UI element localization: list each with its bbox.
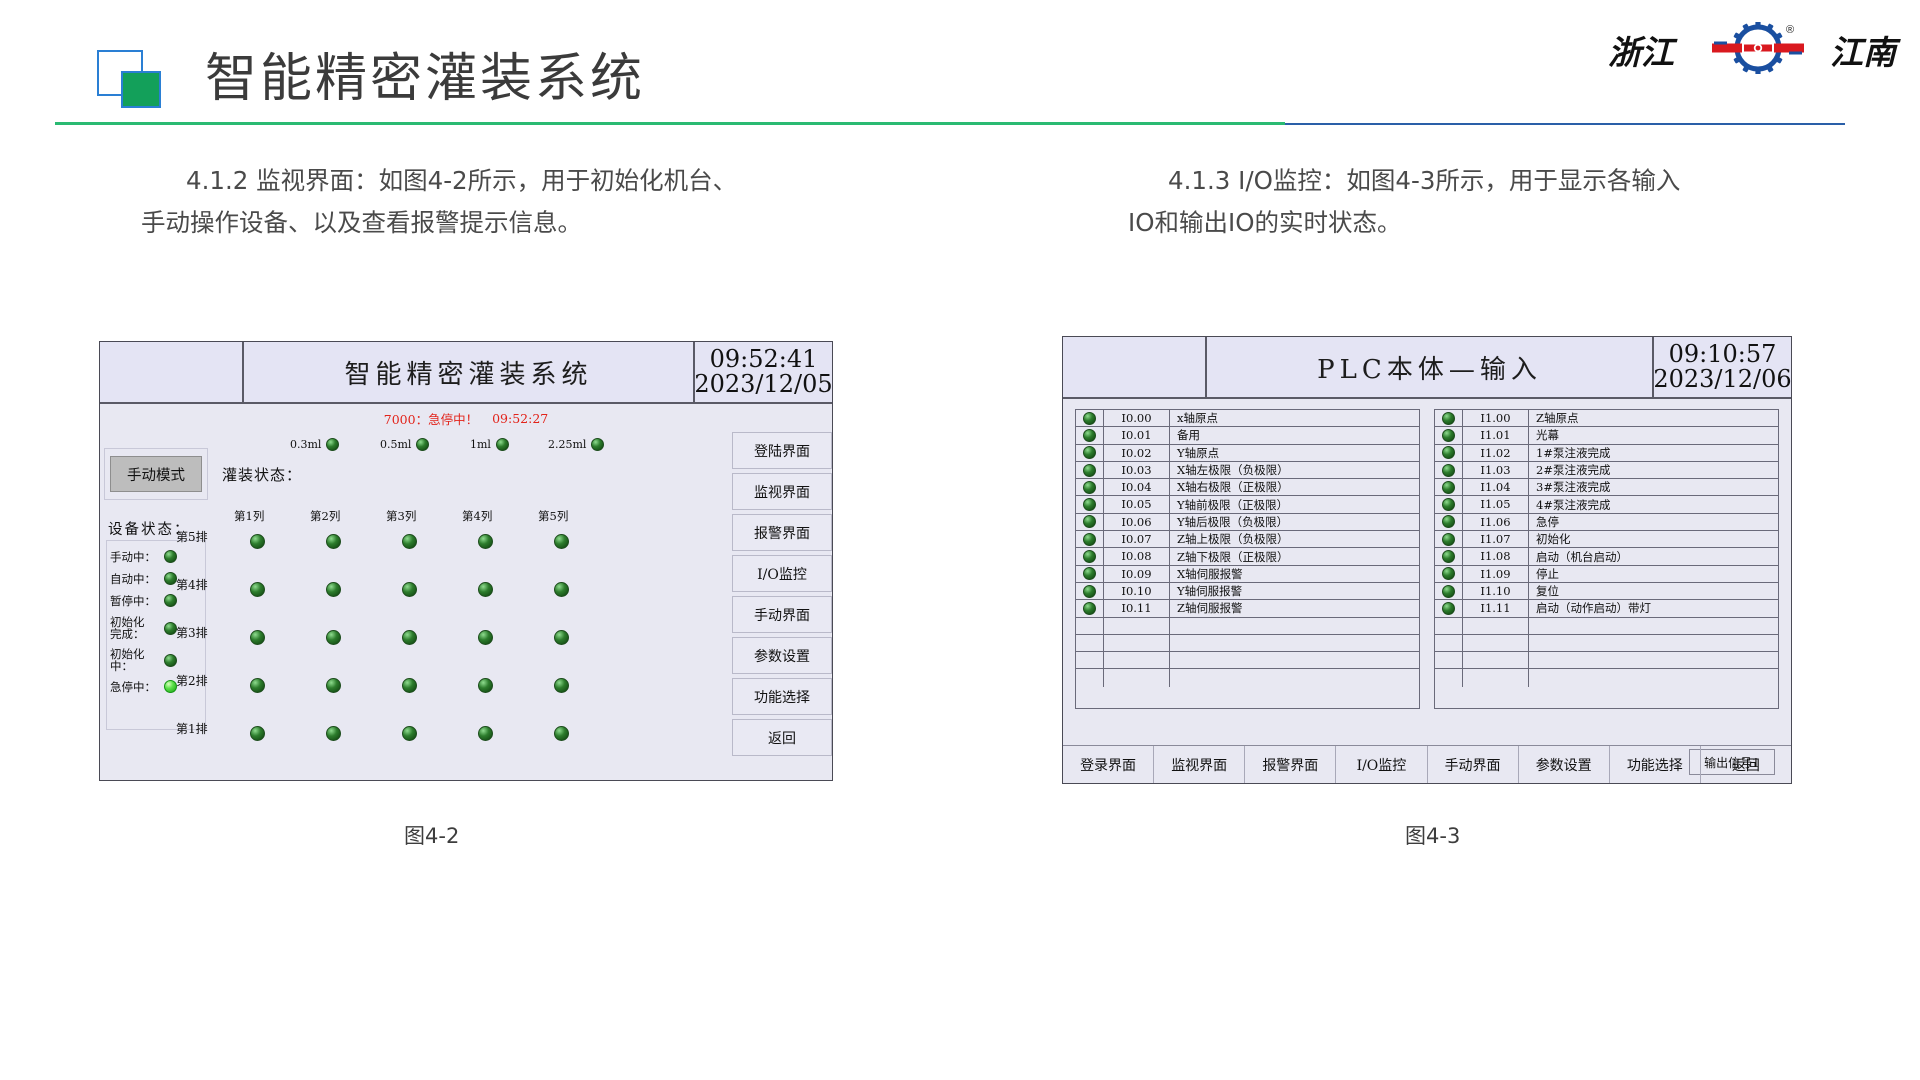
hmi-io-tables: I0.00x轴原点I0.01备用I0.02Y轴原点I0.03X轴左极限（负极限）… — [1063, 399, 1791, 709]
io-address-cell: I1.06 — [1463, 514, 1529, 530]
io-status-lamp-icon — [1442, 515, 1455, 528]
io-status-lamp-icon — [1442, 550, 1455, 563]
io-address-cell: I1.09 — [1463, 566, 1529, 582]
filling-status-lamp-icon — [478, 630, 493, 645]
io-table-row: I0.06Y轴后极限（负极限） — [1076, 514, 1419, 531]
io-description-cell: 启动（动作启动）带灯 — [1529, 600, 1778, 616]
io-table-row: I1.06急停 — [1435, 514, 1778, 531]
manual-mode-button[interactable]: 手动模式 — [110, 456, 202, 492]
hmi-io-clock: 09:10:57 2023/12/06 — [1652, 337, 1791, 397]
filling-status-lamp-icon — [326, 534, 341, 549]
filling-status-grid: 第1列第2列第3列第4列第5列第5排第4排第3排第2排第1排 — [222, 486, 684, 776]
io-address-cell: I0.06 — [1104, 514, 1170, 530]
hmi-io-nav-button[interactable]: 参数设置 — [1519, 746, 1610, 783]
hmi-side-button[interactable]: 参数设置 — [732, 637, 832, 674]
io-lamp-cell — [1076, 462, 1104, 478]
grid-row-header: 第2排 — [176, 672, 208, 689]
hmi-monitor-clock-date: 2023/12/05 — [694, 372, 832, 397]
volume-indicator: 1ml — [470, 438, 509, 451]
figure-caption-left: 图4-2 — [404, 820, 459, 850]
hmi-monitor-titlebar: 智能精密灌装系统 09:52:41 2023/12/05 — [100, 342, 832, 404]
hmi-side-button[interactable]: 手动界面 — [732, 596, 832, 633]
volume-lamp-icon — [416, 438, 429, 451]
filling-status-lamp-icon — [326, 582, 341, 597]
device-state-row: 暂停中： — [110, 594, 206, 607]
paragraph-left-line2: 手动操作设备、以及查看报警提示信息。 — [141, 202, 582, 244]
io-lamp-cell — [1076, 496, 1104, 512]
io-address-cell: I1.10 — [1463, 583, 1529, 599]
io-description-cell: X轴左极限（负极限） — [1170, 462, 1419, 478]
io-table-row: I0.10Y轴伺服报警 — [1076, 583, 1419, 600]
io-status-lamp-icon — [1442, 602, 1455, 615]
volume-indicator: 0.3ml — [290, 438, 339, 451]
hmi-monitor-title: 智能精密灌装系统 — [344, 354, 592, 391]
hmi-monitor-clock: 09:52:41 2023/12/05 — [693, 342, 832, 402]
filling-status-lamp-icon — [402, 678, 417, 693]
io-table-row: I0.05Y轴前极限（正极限） — [1076, 496, 1419, 513]
filling-status-lamp-icon — [478, 582, 493, 597]
company-logo: 浙江 — [1608, 20, 1898, 80]
io-description-cell: 3#泵注液完成 — [1529, 479, 1778, 495]
paragraph-left-line1: 4.1.2 监视界面：如图4-2所示，用于初始化机台、 — [186, 160, 737, 202]
io-status-lamp-icon — [1442, 585, 1455, 598]
grid-row-header: 第3排 — [176, 624, 208, 641]
volume-label: 0.5ml — [380, 438, 411, 451]
io-status-lamp-icon — [1442, 498, 1455, 511]
io-table-row: I1.054#泵注液完成 — [1435, 496, 1778, 513]
io-address-cell: I0.04 — [1104, 479, 1170, 495]
io-table-row — [1076, 635, 1419, 652]
device-state-lamp-icon — [164, 654, 177, 667]
io-table-row — [1435, 652, 1778, 669]
hmi-io-clock-time: 09:10:57 — [1669, 342, 1777, 367]
io-description-cell: Y轴原点 — [1170, 445, 1419, 461]
logo-square-filled-icon — [121, 71, 161, 108]
io-address-cell: I0.10 — [1104, 583, 1170, 599]
io-table-row: I0.09X轴伺服报警 — [1076, 566, 1419, 583]
io-table-row: I1.11启动（动作启动）带灯 — [1435, 600, 1778, 617]
io-address-cell — [1104, 618, 1170, 634]
io-table-row — [1435, 618, 1778, 635]
io-description-cell: 2#泵注液完成 — [1529, 462, 1778, 478]
io-lamp-cell — [1076, 514, 1104, 530]
hmi-monitor-alarm-strip: 7000：急停中！ 09:52:27 — [100, 404, 832, 432]
slide-header: 智能精密灌装系统 浙江 — [0, 0, 1920, 128]
hmi-io-navbar: 登录界面监视界面报警界面I/O监控手动界面参数设置功能选择返回 — [1063, 745, 1791, 783]
io-lamp-cell — [1076, 669, 1104, 686]
volume-lamp-icon — [591, 438, 604, 451]
io-address-cell: I1.00 — [1463, 410, 1529, 426]
io-lamp-cell — [1435, 566, 1463, 582]
io-address-cell: I1.01 — [1463, 427, 1529, 443]
hmi-side-button[interactable]: I/O监控 — [732, 555, 832, 592]
io-status-lamp-icon — [1442, 429, 1455, 442]
io-status-lamp-icon — [1083, 481, 1096, 494]
io-address-cell: I0.00 — [1104, 410, 1170, 426]
io-lamp-cell — [1076, 445, 1104, 461]
hmi-side-button[interactable]: 返回 — [732, 719, 832, 756]
io-table-row: I1.043#泵注液完成 — [1435, 479, 1778, 496]
hmi-io-nav-button[interactable]: 报警界面 — [1245, 746, 1336, 783]
io-description-cell: Z轴下极限（正极限） — [1170, 549, 1419, 565]
grid-row-header: 第5排 — [176, 528, 208, 545]
filling-status-lamp-icon — [554, 678, 569, 693]
io-status-lamp-icon — [1083, 550, 1096, 563]
device-state-label-text: 手动中： — [110, 551, 164, 563]
hmi-side-button[interactable]: 报警界面 — [732, 514, 832, 551]
io-table-row — [1076, 618, 1419, 635]
io-lamp-cell — [1435, 652, 1463, 668]
io-table-row: I1.07初始化 — [1435, 531, 1778, 548]
io-address-cell: I0.02 — [1104, 445, 1170, 461]
io-table-row: I0.11Z轴伺服报警 — [1076, 600, 1419, 617]
io-address-cell: I1.11 — [1463, 600, 1529, 616]
io-status-lamp-icon — [1083, 585, 1096, 598]
io-description-cell: 初始化 — [1529, 531, 1778, 547]
io-lamp-cell — [1076, 635, 1104, 651]
io-address-cell: I0.08 — [1104, 548, 1170, 564]
filling-status-lamp-icon — [554, 630, 569, 645]
grid-row-header: 第4排 — [176, 576, 208, 593]
io-table-row: I1.01光幕 — [1435, 427, 1778, 444]
hmi-monitor-clock-time: 09:52:41 — [710, 347, 818, 372]
io-status-lamp-icon — [1442, 481, 1455, 494]
io-description-cell: Y轴伺服报警 — [1170, 583, 1419, 599]
io-description-cell: 停止 — [1529, 566, 1778, 582]
io-status-lamp-icon — [1083, 498, 1096, 511]
io-lamp-cell — [1435, 583, 1463, 599]
grid-row-header: 第1排 — [176, 720, 208, 737]
io-address-cell: I1.03 — [1463, 462, 1529, 478]
volume-label: 1ml — [470, 438, 491, 451]
io-description-cell: 1#泵注液完成 — [1529, 445, 1778, 461]
io-address-cell — [1463, 669, 1529, 686]
io-description-cell: Y轴后极限（负极限） — [1170, 514, 1419, 530]
io-status-lamp-icon — [1442, 464, 1455, 477]
io-lamp-cell — [1435, 669, 1463, 686]
io-address-cell: I1.02 — [1463, 445, 1529, 461]
io-lamp-cell — [1076, 583, 1104, 599]
filling-status-lamp-icon — [250, 582, 265, 597]
io-lamp-cell — [1435, 548, 1463, 564]
io-description-cell: x轴原点 — [1170, 410, 1419, 426]
filling-status-lamp-icon — [402, 582, 417, 597]
io-status-lamp-icon — [1442, 446, 1455, 459]
io-lamp-cell — [1076, 531, 1104, 547]
hmi-io-nav-button[interactable]: 监视界面 — [1154, 746, 1245, 783]
filling-status-lamp-icon — [250, 678, 265, 693]
io-lamp-cell — [1435, 427, 1463, 443]
io-description-cell: 启动（机台启动） — [1529, 549, 1778, 565]
io-address-cell: I0.07 — [1104, 531, 1170, 547]
hmi-io-nav-button[interactable]: I/O监控 — [1336, 746, 1427, 783]
filling-status-lamp-icon — [478, 678, 493, 693]
hmi-io-nav-button[interactable]: 返回 — [1701, 746, 1791, 783]
io-lamp-cell — [1435, 496, 1463, 512]
io-table-row: I1.08启动（机台启动） — [1435, 548, 1778, 565]
hmi-monitor-side-buttons: 登陆界面监视界面报警界面I/O监控手动界面参数设置功能选择返回 — [732, 432, 832, 760]
hmi-io-nav-button[interactable]: 登录界面 — [1063, 746, 1154, 783]
page-title: 智能精密灌装系统 — [205, 36, 645, 111]
volume-label: 0.3ml — [290, 438, 321, 451]
hmi-monitor-screen: 智能精密灌装系统 09:52:41 2023/12/05 7000：急停中！ 0… — [99, 341, 833, 781]
io-description-cell: 4#泵注液完成 — [1529, 497, 1778, 513]
io-table-row — [1435, 635, 1778, 652]
hmi-io-titlebar-spacer — [1063, 337, 1207, 397]
filling-status-lamp-icon — [402, 726, 417, 741]
device-state-row: 手动中： — [110, 550, 206, 563]
title-divider — [55, 122, 1845, 124]
io-status-lamp-icon — [1083, 412, 1096, 425]
io-description-cell: X轴伺服报警 — [1170, 566, 1419, 582]
hmi-io-title: PLC本体—输入 — [1317, 349, 1542, 386]
hmi-io-screen: PLC本体—输入 09:10:57 2023/12/06 I0.00x轴原点I0… — [1062, 336, 1792, 784]
filling-status-lamp-icon — [250, 534, 265, 549]
io-description-cell: Y轴前极限（正极限） — [1170, 497, 1419, 513]
io-address-cell — [1463, 618, 1529, 634]
io-address-cell — [1104, 652, 1170, 668]
device-state-label-text: 暂停中： — [110, 595, 164, 607]
io-table-row: I1.09停止 — [1435, 566, 1778, 583]
io-table-row: I1.021#泵注液完成 — [1435, 445, 1778, 462]
io-lamp-cell — [1076, 618, 1104, 634]
filling-status-lamp-icon — [554, 534, 569, 549]
io-lamp-cell — [1435, 531, 1463, 547]
filling-status-lamp-icon — [326, 726, 341, 741]
io-table-row — [1076, 669, 1419, 686]
io-table-row — [1435, 669, 1778, 686]
io-description-cell: Z轴原点 — [1529, 410, 1778, 426]
filling-status-lamp-icon — [478, 534, 493, 549]
grid-column-header: 第4列 — [462, 508, 492, 524]
filling-status-lamp-icon — [478, 726, 493, 741]
io-table-row: I0.08Z轴下极限（正极限） — [1076, 548, 1419, 565]
hmi-side-button[interactable]: 监视界面 — [732, 473, 832, 510]
filling-status-lamp-icon — [402, 534, 417, 549]
io-address-cell: I0.11 — [1104, 600, 1170, 616]
hmi-io-title-cell: PLC本体—输入 — [1207, 337, 1652, 397]
hmi-monitor-title-cell: 智能精密灌装系统 — [244, 342, 693, 402]
io-address-cell: I0.03 — [1104, 462, 1170, 478]
io-lamp-cell — [1076, 600, 1104, 616]
grid-column-header: 第5列 — [538, 508, 568, 524]
io-table-row: I0.07Z轴上极限（负极限） — [1076, 531, 1419, 548]
filling-status-lamp-icon — [326, 678, 341, 693]
paragraph-right-line2: IO和输出IO的实时状态。 — [1128, 202, 1402, 244]
figure-caption-right: 图4-3 — [1405, 820, 1460, 850]
io-table-row: I1.032#泵注液完成 — [1435, 462, 1778, 479]
fill-state-label: 灌装状态： — [222, 464, 302, 485]
io-description-cell: Z轴伺服报警 — [1170, 600, 1419, 616]
volume-indicator: 2.25ml — [548, 438, 604, 451]
registered-mark: ® — [1786, 24, 1794, 36]
io-lamp-cell — [1076, 410, 1104, 426]
device-state-label-text: 急停中： — [110, 681, 164, 693]
hmi-side-button[interactable]: 功能选择 — [732, 678, 832, 715]
io-table-row: I0.03X轴左极限（负极限） — [1076, 462, 1419, 479]
alarm-time: 09:52:27 — [492, 411, 548, 426]
io-description-cell: Z轴上极限（负极限） — [1170, 531, 1419, 547]
io-lamp-cell — [1435, 410, 1463, 426]
io-table-row: I0.00x轴原点 — [1076, 410, 1419, 427]
io-address-cell: I1.07 — [1463, 531, 1529, 547]
io-address-cell: I0.05 — [1104, 496, 1170, 512]
filling-status-lamp-icon — [554, 726, 569, 741]
filling-status-lamp-icon — [554, 582, 569, 597]
io-status-lamp-icon — [1083, 567, 1096, 580]
io-table-row: I0.01备用 — [1076, 427, 1419, 444]
device-state-row: 初始化中： — [110, 648, 206, 672]
hmi-io-nav-button[interactable]: 手动界面 — [1428, 746, 1519, 783]
io-address-cell — [1463, 652, 1529, 668]
io-lamp-cell — [1435, 635, 1463, 651]
grid-column-header: 第1列 — [234, 508, 264, 524]
io-table-right: I1.00Z轴原点I1.01光幕I1.021#泵注液完成I1.032#泵注液完成… — [1434, 409, 1779, 709]
io-status-lamp-icon — [1083, 446, 1096, 459]
io-lamp-cell — [1435, 514, 1463, 530]
hmi-side-button[interactable]: 登陆界面 — [732, 432, 832, 469]
io-table-row: I1.10复位 — [1435, 583, 1778, 600]
io-status-lamp-icon — [1442, 412, 1455, 425]
io-status-lamp-icon — [1442, 533, 1455, 546]
io-description-cell: 复位 — [1529, 583, 1778, 599]
paragraph-right-line1: 4.1.3 I/O监控：如图4-3所示，用于显示各输入 — [1168, 160, 1680, 202]
io-lamp-cell — [1435, 445, 1463, 461]
hmi-io-titlebar: PLC本体—输入 09:10:57 2023/12/06 — [1063, 337, 1791, 399]
device-state-lamp-icon — [164, 550, 177, 563]
device-state-lamp-icon — [164, 594, 177, 607]
volume-lamp-icon — [496, 438, 509, 451]
io-status-lamp-icon — [1083, 515, 1096, 528]
io-address-cell — [1104, 635, 1170, 651]
io-address-cell: I1.04 — [1463, 479, 1529, 495]
io-status-lamp-icon — [1083, 429, 1096, 442]
io-address-cell — [1463, 635, 1529, 651]
io-lamp-cell — [1076, 566, 1104, 582]
io-description-cell: 光幕 — [1529, 427, 1778, 443]
io-lamp-cell — [1076, 548, 1104, 564]
io-lamp-cell — [1435, 479, 1463, 495]
volume-indicator: 0.5ml — [380, 438, 429, 451]
device-state-label-text: 自动中： — [110, 573, 164, 585]
io-table-left: I0.00x轴原点I0.01备用I0.02Y轴原点I0.03X轴左极限（负极限）… — [1075, 409, 1420, 709]
io-lamp-cell — [1076, 479, 1104, 495]
brand-text-left: 浙江 — [1608, 26, 1674, 74]
filling-status-lamp-icon — [250, 630, 265, 645]
io-address-cell: I0.09 — [1104, 566, 1170, 582]
io-address-cell: I0.01 — [1104, 427, 1170, 443]
io-description-cell: 备用 — [1170, 427, 1419, 443]
hmi-io-nav-button[interactable]: 功能选择 — [1610, 746, 1701, 783]
grid-column-header: 第2列 — [310, 508, 340, 524]
io-address-cell — [1104, 669, 1170, 686]
device-state-label-text: 初始化完成： — [110, 616, 164, 640]
io-table-row: I0.04X轴右极限（正极限） — [1076, 479, 1419, 496]
device-state-label-text: 初始化中： — [110, 648, 164, 672]
hmi-monitor-workarea: 手动模式 设备状态： 手动中：自动中：暂停中：初始化完成：初始化中：急停中： 灌… — [100, 432, 832, 781]
io-status-lamp-icon — [1442, 567, 1455, 580]
io-description-cell: 急停 — [1529, 514, 1778, 530]
io-lamp-cell — [1076, 427, 1104, 443]
io-lamp-cell — [1435, 462, 1463, 478]
volume-lamp-icon — [326, 438, 339, 451]
io-table-row: I0.02Y轴原点 — [1076, 445, 1419, 462]
io-address-cell: I1.08 — [1463, 548, 1529, 564]
io-status-lamp-icon — [1083, 464, 1096, 477]
io-status-lamp-icon — [1083, 602, 1096, 615]
hmi-monitor-titlebar-spacer — [100, 342, 244, 402]
hmi-io-clock-date: 2023/12/06 — [1653, 367, 1791, 392]
filling-status-lamp-icon — [402, 630, 417, 645]
brand-text-right: 江南 — [1830, 26, 1896, 74]
io-address-cell: I1.05 — [1463, 496, 1529, 512]
filling-status-lamp-icon — [326, 630, 341, 645]
alarm-code-text: 7000：急停中！ — [384, 409, 478, 428]
io-lamp-cell — [1435, 600, 1463, 616]
io-lamp-cell — [1435, 618, 1463, 634]
io-table-row: I1.00Z轴原点 — [1435, 410, 1778, 427]
filling-status-lamp-icon — [250, 726, 265, 741]
io-table-row — [1076, 652, 1419, 669]
io-status-lamp-icon — [1083, 533, 1096, 546]
io-description-cell: X轴右极限（正极限） — [1170, 479, 1419, 495]
grid-column-header: 第3列 — [386, 508, 416, 524]
volume-label: 2.25ml — [548, 438, 586, 451]
io-lamp-cell — [1076, 652, 1104, 668]
